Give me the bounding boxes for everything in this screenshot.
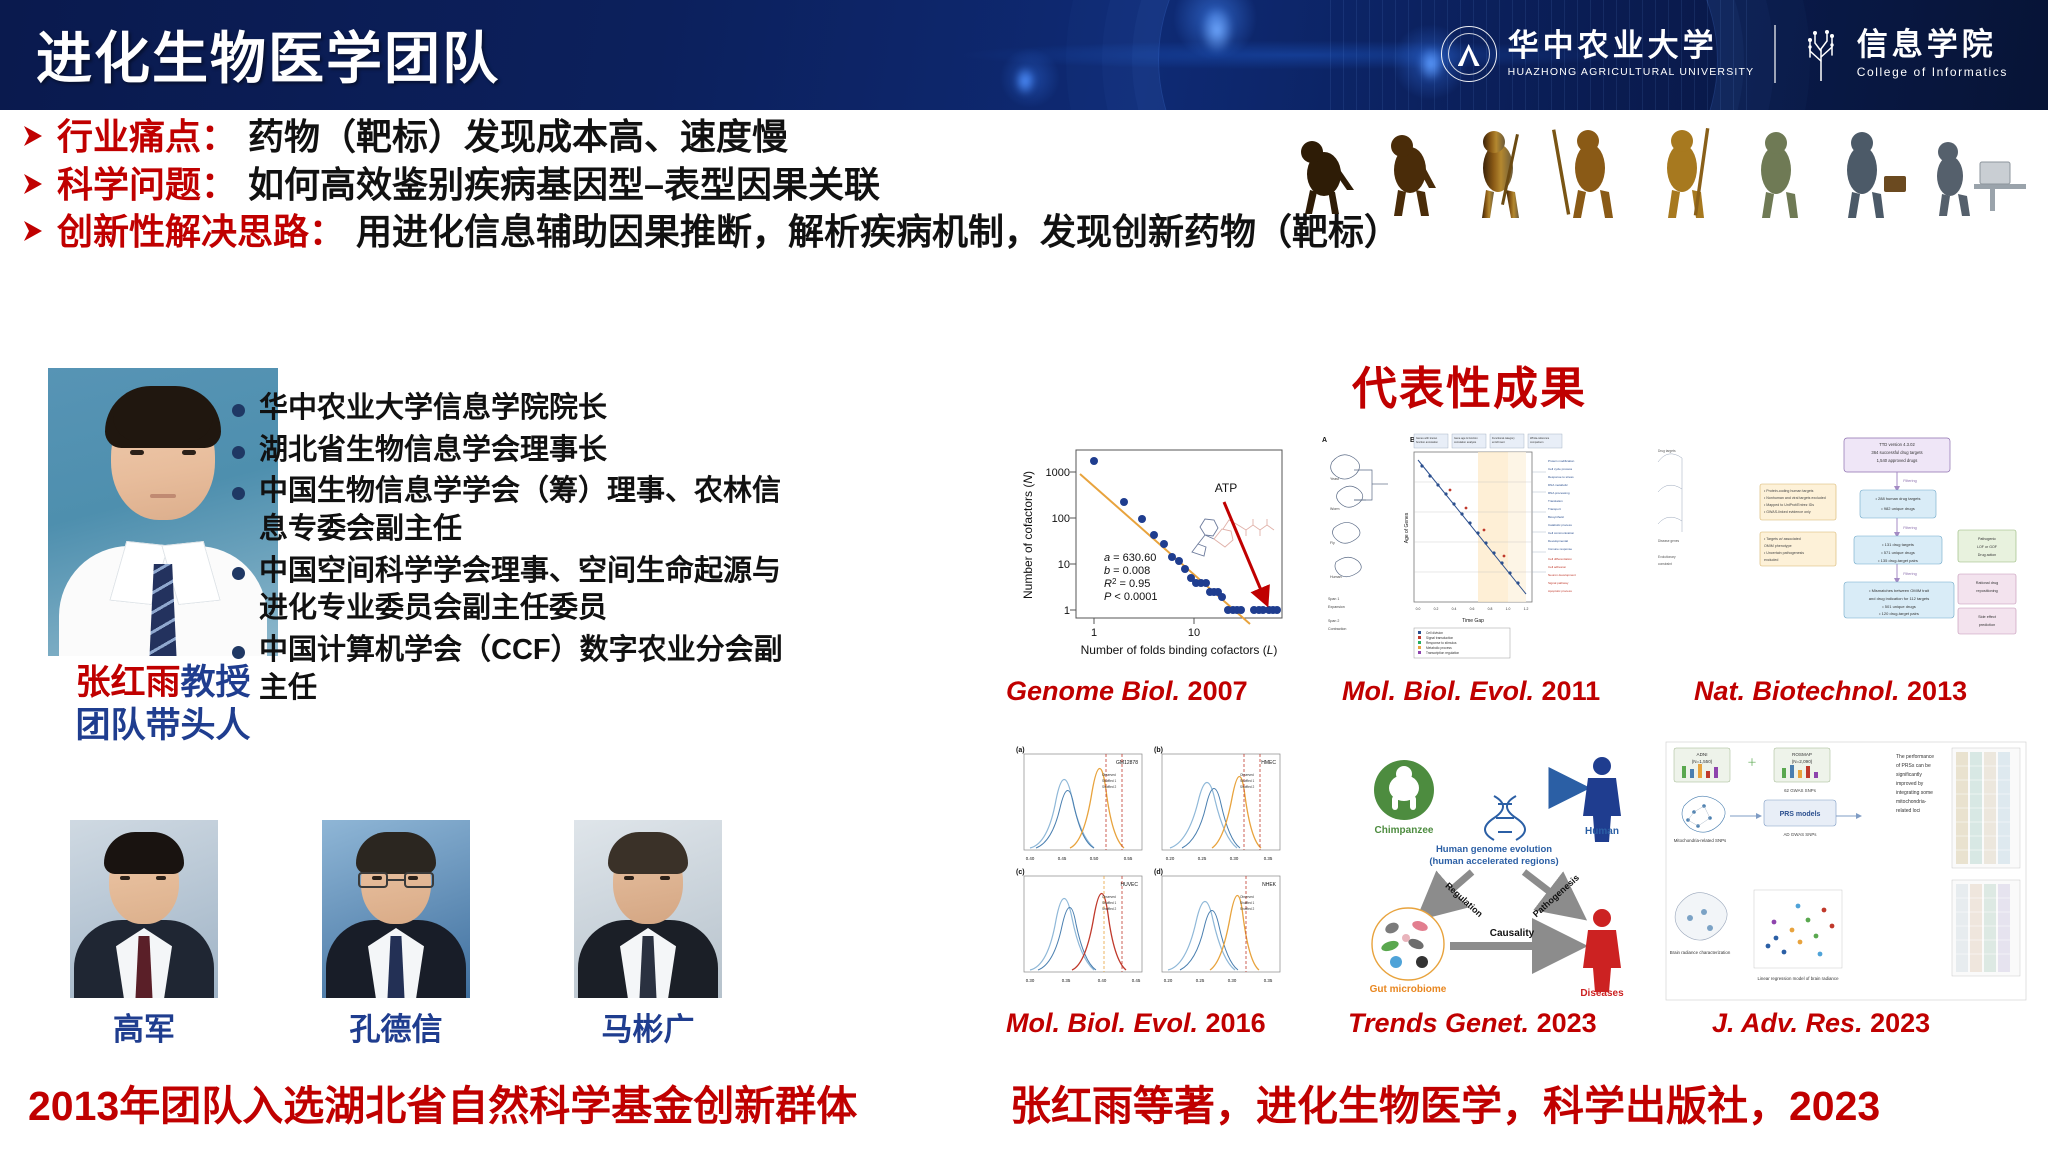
svg-text:• Uncertain pathogenesis: • Uncertain pathogenesis	[1764, 551, 1804, 555]
svg-text:Worm: Worm	[1330, 507, 1340, 511]
svg-text:Catabolic process: Catabolic process	[1548, 523, 1572, 527]
member-3: 马彬广	[574, 820, 722, 1049]
svg-text:Signal transduction: Signal transduction	[1426, 636, 1453, 640]
svg-text:correlation analysis: correlation analysis	[1454, 440, 1477, 444]
svg-text:PRS models: PRS models	[1780, 811, 1821, 818]
results-section-title: 代表性成果	[1352, 352, 1587, 417]
figure-mol-biol-evol-2016: (a)(b) (c)(d) GM12878HMEC HUVECNHEK Obse…	[1010, 740, 1300, 1002]
bullet-item-1: 行业痛点： 药物（靶标）发现成本高、速度慢	[20, 113, 1400, 161]
svg-text:ADNI: ADNI	[1697, 752, 1708, 757]
svg-text:Evolutionary: Evolutionary	[1658, 555, 1676, 559]
bullet-text-3: 用进化信息辅助因果推断，解析疾病机制，发现创新药物（靶标）	[356, 208, 1400, 256]
svg-text:LOF or GOF: LOF or GOF	[1977, 545, 1998, 549]
svg-text:Cell communication: Cell communication	[1548, 531, 1575, 535]
page-title: 进化生物医学团队	[36, 14, 500, 95]
svg-text:Span 2: Span 2	[1328, 619, 1339, 623]
figure1-annotations: a = 630.60 b = 0.008 R2 = 0.95 P < 0.000…	[1104, 552, 1158, 603]
svg-text:• 131 drug targets: • 131 drug targets	[1882, 542, 1914, 547]
svg-text:0.35: 0.35	[1264, 856, 1273, 861]
svg-text:Shuffled 1: Shuffled 1	[1240, 779, 1255, 783]
svg-text:0.25: 0.25	[1196, 978, 1205, 983]
figure5-diseases-label: Diseases	[1580, 988, 1624, 998]
svg-text:1000: 1000	[1046, 467, 1070, 479]
svg-text:Apoptotic process: Apoptotic process	[1548, 589, 1572, 593]
svg-text:＋: ＋	[1747, 758, 1757, 769]
svg-text:Shuffled 1: Shuffled 1	[1102, 779, 1117, 783]
svg-text:enrichment: enrichment	[1492, 440, 1505, 444]
bullet-dot-icon	[232, 567, 245, 580]
svg-text:Response to stimulus: Response to stimulus	[1426, 641, 1457, 645]
svg-text:• 135 drug-target pairs: • 135 drug-target pairs	[1878, 558, 1918, 563]
header-glow-dot-1	[1200, 6, 1234, 54]
header-logos: 华中农业大学 HUAZHONG AGRICULTURAL UNIVERSITY	[1441, 12, 2008, 96]
svg-text:Translation: Translation	[1548, 499, 1563, 503]
svg-text:Fly: Fly	[1330, 541, 1335, 545]
svg-text:repositioning: repositioning	[1976, 589, 1998, 593]
svg-text:Mitochondria-related SNPs: Mitochondria-related SNPs	[1674, 838, 1727, 843]
svg-text:0.40: 0.40	[1026, 856, 1035, 861]
svg-text:Shuffled 1: Shuffled 1	[1102, 901, 1117, 905]
svg-text:comparison: comparison	[1530, 440, 1544, 444]
svg-text:100: 100	[1052, 513, 1070, 525]
bio-item: 中国空间科学学会理事、空间生命起源与进化专业委员会副主任委员	[232, 553, 792, 628]
bullet-label-1: 行业痛点：	[57, 113, 237, 161]
caption-figure-1: Genome Biol. 2007	[1006, 676, 1248, 707]
bio-text: 湖北省生物信息学会理事长	[259, 432, 607, 470]
svg-text:Protein modification: Protein modification	[1548, 459, 1575, 463]
arrow-bullet-icon	[20, 123, 46, 149]
svg-text:GM12878: GM12878	[1116, 760, 1138, 766]
bullet-dot-icon	[232, 487, 245, 500]
svg-text:Cell adhesion: Cell adhesion	[1548, 565, 1567, 569]
svg-text:Biosynthetic: Biosynthetic	[1548, 515, 1565, 519]
svg-text:Expansion: Expansion	[1328, 605, 1345, 609]
svg-text:TTD version 4.3.02: TTD version 4.3.02	[1879, 442, 1915, 447]
svg-text:Genes with known: Genes with known	[1416, 436, 1438, 440]
svg-text:(b): (b)	[1154, 747, 1163, 754]
svg-text:Functional category: Functional category	[1492, 436, 1515, 440]
university-crest-icon	[1441, 26, 1497, 82]
figure5-causality-label: Causality	[1490, 928, 1535, 939]
svg-text:excluded: excluded	[1764, 558, 1778, 562]
college-logo: 信息学院 College of Informatics	[1796, 27, 2008, 81]
svg-text:1.0: 1.0	[1506, 607, 1511, 611]
figure-genome-biol-2007: 1000100 101 110 Number of folds binding …	[1014, 440, 1302, 660]
figure1-ylabel: Number of cofactors (N)	[1021, 471, 1035, 599]
lead-bio-list: 华中农业大学信息学院院长 湖北省生物信息学会理事长 中国生物信息学学会（筹）理事…	[232, 390, 792, 712]
svg-text:of PRSs can be: of PRSs can be	[1896, 763, 1931, 769]
svg-text:0.45: 0.45	[1132, 978, 1141, 983]
svg-text:1: 1	[1064, 605, 1070, 617]
svg-text:(a): (a)	[1016, 747, 1025, 754]
member-name: 高军	[70, 1004, 218, 1049]
svg-text:a = 630.60: a = 630.60	[1104, 552, 1156, 564]
caption-figure-2: Mol. Biol. Evol. 2011	[1342, 676, 1600, 707]
svg-text:Filtering: Filtering	[1903, 572, 1917, 576]
svg-text:Span 1: Span 1	[1328, 597, 1339, 601]
member-name: 马彬广	[574, 1004, 722, 1049]
svg-text:Observed: Observed	[1102, 773, 1116, 777]
svg-text:Linear regression model of bra: Linear regression model of brain radianc…	[1757, 976, 1839, 981]
bio-item: 湖北省生物信息学会理事长	[232, 432, 792, 470]
figure5-chimp-label: Chimpanzee	[1375, 825, 1434, 836]
svg-text:mitochondria-: mitochondria-	[1896, 799, 1927, 805]
svg-text:• 982 unique drugs: • 982 unique drugs	[1881, 506, 1914, 511]
university-name-cn: 华中农业大学	[1508, 30, 1755, 63]
svg-text:RNA processing: RNA processing	[1548, 491, 1570, 495]
arrow-bullet-icon	[20, 171, 46, 197]
svg-text:(N=1,550): (N=1,550)	[1692, 759, 1713, 764]
svg-text:0.45: 0.45	[1058, 856, 1067, 861]
svg-text:• 571 unique drugs: • 571 unique drugs	[1881, 550, 1914, 555]
bio-text: 中国空间科学学会理事、空间生命起源与进化专业委员会副主任委员	[259, 553, 792, 628]
arrow-bullet-icon	[20, 218, 46, 244]
bullet-item-2: 科学问题： 如何高效鉴别疾病基因型–表型因果关联	[20, 161, 1400, 209]
svg-text:Brain radiance characterizatio: Brain radiance characterization	[1670, 950, 1731, 955]
svg-text:(d): (d)	[1154, 869, 1163, 876]
caption-figure-4: Mol. Biol. Evol. 2016	[1006, 1008, 1266, 1039]
svg-text:DNA metabolic: DNA metabolic	[1548, 483, 1568, 487]
svg-text:0.55: 0.55	[1124, 856, 1133, 861]
svg-text:NHEK: NHEK	[1262, 882, 1277, 888]
svg-text:Shuffled 2: Shuffled 2	[1102, 907, 1117, 911]
svg-text:• Mismatches between OMIM trai: • Mismatches between OMIM trait	[1869, 588, 1930, 593]
svg-text:constraint: constraint	[1658, 562, 1672, 566]
svg-text:Shuffled 2: Shuffled 2	[1240, 785, 1255, 789]
svg-text:A: A	[1322, 437, 1327, 444]
svg-text:• 288 human drug targets: • 288 human drug targets	[1876, 496, 1921, 501]
college-name-en: College of Informatics	[1857, 65, 2008, 79]
caption-figure-6: J. Adv. Res. 2023	[1712, 1008, 1930, 1039]
member-name: 孔德信	[322, 1004, 470, 1049]
circuit-tree-icon	[1796, 27, 1846, 81]
bullet-text-1: 药物（靶标）发现成本高、速度慢	[248, 113, 788, 161]
svg-text:b = 0.008: b = 0.008	[1104, 565, 1150, 577]
bullet-text-2: 如何高效鉴别疾病基因型–表型因果关联	[248, 161, 880, 209]
svg-text:1,540 approved drugs: 1,540 approved drugs	[1877, 458, 1918, 463]
svg-text:Side effect: Side effect	[1978, 615, 1997, 619]
bio-item: 中国生物信息学学会（筹）理事、农林信息专委会副主任	[232, 473, 792, 548]
svg-text:Filtering: Filtering	[1903, 479, 1917, 483]
svg-text:HMEC: HMEC	[1261, 760, 1276, 766]
svg-text:1: 1	[1091, 627, 1097, 639]
figure-j-adv-res-2023: ADNI(N=1,550) ROSMAP(N=2,090) ＋ Mitochon…	[1664, 740, 2028, 1002]
svg-text:related loci: related loci	[1896, 808, 1920, 814]
svg-text:HUVEC: HUVEC	[1120, 882, 1138, 888]
svg-text:Developmental: Developmental	[1548, 539, 1568, 543]
svg-text:Cell cycle process: Cell cycle process	[1548, 467, 1573, 471]
figure5-gut-label: Gut microbiome	[1370, 984, 1447, 995]
svg-text:Observed: Observed	[1240, 895, 1254, 899]
svg-text:Rational drug: Rational drug	[1976, 581, 1999, 585]
svg-text:0.35: 0.35	[1264, 978, 1273, 983]
svg-text:R2 = 0.95: R2 = 0.95	[1104, 577, 1150, 590]
bio-text: 中国生物信息学学会（筹）理事、农林信息专委会副主任	[259, 473, 792, 548]
svg-text:• 120 drug-target pairs: • 120 drug-target pairs	[1879, 611, 1919, 616]
svg-text:Shuffled 1: Shuffled 1	[1240, 901, 1255, 905]
svg-text:0.30: 0.30	[1026, 978, 1035, 983]
svg-text:0.50: 0.50	[1090, 856, 1099, 861]
university-name-en: HUAZHONG AGRICULTURAL UNIVERSITY	[1508, 66, 1755, 78]
svg-text:0.0: 0.0	[1416, 607, 1421, 611]
svg-text:• 501 unique drugs: • 501 unique drugs	[1882, 604, 1915, 609]
svg-text:Immune response: Immune response	[1548, 547, 1572, 551]
svg-text:ROSMAP: ROSMAP	[1792, 752, 1812, 757]
bullet-dot-icon	[232, 646, 245, 659]
svg-text:integrating some: integrating some	[1896, 790, 1933, 796]
svg-text:0.4: 0.4	[1452, 607, 1457, 611]
svg-text:Observed: Observed	[1102, 895, 1116, 899]
figure1-molecule-label: ATP	[1215, 481, 1237, 495]
bio-item: 中国计算机学会（CCF）数字农业分会副主任	[232, 632, 792, 707]
svg-text:Cell division: Cell division	[1426, 631, 1443, 635]
svg-text:62 GWAS SNPs: 62 GWAS SNPs	[1784, 788, 1817, 793]
bio-text: 中国计算机学会（CCF）数字农业分会副主任	[259, 632, 792, 707]
bullet-item-3: 创新性解决思路： 用进化信息辅助因果推断，解析疾病机制，发现创新药物（靶标）	[20, 208, 1400, 256]
evolution-illustration	[1290, 128, 2032, 220]
svg-text:Transcription regulation: Transcription regulation	[1426, 651, 1459, 655]
svg-text:function annotation: function annotation	[1416, 440, 1438, 444]
university-logo: 华中农业大学 HUAZHONG AGRICULTURAL UNIVERSITY	[1441, 26, 1755, 82]
figure-mol-biol-evol-2011: A B YeastWorm FlyHuman Span 1Expansion S…	[1318, 432, 1622, 662]
svg-text:Human genome evolution: Human genome evolution	[1436, 844, 1552, 855]
svg-text:10: 10	[1058, 559, 1070, 571]
svg-text:Drug targets: Drug targets	[1658, 449, 1676, 453]
svg-text:Time Gap: Time Gap	[1462, 618, 1484, 624]
svg-text:Drug action: Drug action	[1978, 553, 1996, 557]
figure-trends-genet-2023: Chimpanzee Human Human genome evolution …	[1344, 748, 1644, 998]
member-portrait	[574, 820, 722, 998]
slide-header: 进化生物医学团队 华中农业大学 HUAZHONG AGRICULTURAL UN…	[0, 0, 2048, 110]
svg-text:Contraction: Contraction	[1328, 627, 1346, 631]
figure-nat-biotechnol-2013: TTD version 4.3.02 364 successful drug t…	[1648, 432, 2028, 662]
svg-text:0.6: 0.6	[1470, 607, 1475, 611]
svg-text:1.2: 1.2	[1524, 607, 1529, 611]
svg-text:significantly: significantly	[1896, 772, 1922, 778]
logo-divider	[1774, 25, 1775, 83]
svg-text:0.20: 0.20	[1166, 856, 1175, 861]
member-portrait	[70, 820, 218, 998]
svg-text:Neuron development: Neuron development	[1548, 573, 1576, 577]
svg-text:Filtering: Filtering	[1903, 526, 1917, 530]
svg-text:Human: Human	[1330, 575, 1342, 579]
key-points-list: 行业痛点： 药物（靶标）发现成本高、速度慢 科学问题： 如何高效鉴别疾病基因型–…	[20, 113, 1400, 256]
svg-text:0.2: 0.2	[1434, 607, 1439, 611]
svg-text:0.35: 0.35	[1062, 978, 1071, 983]
svg-text:0.8: 0.8	[1488, 607, 1493, 611]
svg-text:Pathogenic: Pathogenic	[1978, 537, 1996, 541]
svg-text:Cell differentiation: Cell differentiation	[1548, 557, 1572, 561]
svg-text:(c): (c)	[1016, 869, 1025, 876]
caption-figure-5: Trends Genet. 2023	[1348, 1008, 1597, 1039]
svg-text:10: 10	[1188, 627, 1200, 639]
bullet-label-3: 创新性解决思路：	[57, 208, 345, 256]
header-glow-dot-3	[1014, 66, 1036, 96]
svg-text:Shuffled 2: Shuffled 2	[1102, 785, 1117, 789]
bullet-dot-icon	[232, 446, 245, 459]
svg-text:• Nonhuman and viral targets e: • Nonhuman and viral targets excluded	[1764, 496, 1826, 500]
svg-text:• GWAS-linked evidence only: • GWAS-linked evidence only	[1764, 510, 1811, 514]
member-2: 孔德信	[322, 820, 470, 1049]
svg-text:• Mapped to UniProt/Entrez IDs: • Mapped to UniProt/Entrez IDs	[1764, 503, 1814, 507]
svg-text:Age of Genes: Age of Genes	[1404, 512, 1410, 543]
award-banner: 2013年团队入选湖北省自然科学基金创新群体	[28, 1072, 857, 1132]
svg-text:0.30: 0.30	[1228, 978, 1237, 983]
svg-text:Observed: Observed	[1240, 773, 1254, 777]
svg-text:• Targets w/ associated: • Targets w/ associated	[1764, 537, 1801, 541]
svg-text:Gene age & function: Gene age & function	[1454, 436, 1478, 440]
svg-text:improved by: improved by	[1896, 781, 1924, 787]
svg-text:prediction: prediction	[1979, 623, 1995, 627]
svg-text:364 successful drug targets: 364 successful drug targets	[1871, 450, 1922, 455]
svg-text:(human accelerated regions): (human accelerated regions)	[1429, 856, 1558, 867]
bullet-dot-icon	[232, 404, 245, 417]
svg-text:Whole-reference: Whole-reference	[1530, 436, 1550, 440]
svg-text:Metabolic process: Metabolic process	[1426, 646, 1452, 650]
member-portrait	[322, 820, 470, 998]
figure1-xlabel: Number of folds binding cofactors (L)	[1081, 643, 1278, 657]
svg-text:Transport: Transport	[1548, 507, 1561, 511]
svg-text:OMIM phenotype: OMIM phenotype	[1764, 544, 1792, 548]
bullet-label-2: 科学问题：	[57, 161, 237, 209]
book-banner: 张红雨等著，进化生物医学，科学出版社，2023	[1010, 1072, 1880, 1132]
svg-text:• Protein-coding human targets: • Protein-coding human targets	[1764, 489, 1814, 493]
svg-text:and drug indication for 112 ta: and drug indication for 112 targets	[1869, 596, 1929, 601]
svg-text:Signal pathway: Signal pathway	[1548, 581, 1569, 585]
member-1: 高军	[70, 820, 218, 1049]
svg-text:0.25: 0.25	[1198, 856, 1207, 861]
svg-text:0.40: 0.40	[1098, 978, 1107, 983]
svg-text:AD GWAS SNPs: AD GWAS SNPs	[1783, 832, 1817, 837]
svg-text:(N=2,090): (N=2,090)	[1792, 759, 1813, 764]
svg-text:Shuffled 2: Shuffled 2	[1240, 907, 1255, 911]
college-name-cn: 信息学院	[1857, 29, 2008, 62]
svg-text:0.20: 0.20	[1164, 978, 1173, 983]
bio-item: 华中农业大学信息学院院长	[232, 390, 792, 428]
svg-text:P < 0.0001: P < 0.0001	[1104, 591, 1158, 603]
lead-name: 张红雨	[75, 663, 180, 702]
svg-text:Response to stress: Response to stress	[1548, 475, 1574, 479]
svg-text:The performance: The performance	[1896, 754, 1934, 760]
bio-text: 华中农业大学信息学院院长	[259, 390, 607, 428]
svg-text:Yeast: Yeast	[1330, 477, 1339, 481]
figure5-human-label: Human	[1585, 826, 1619, 837]
svg-text:0.30: 0.30	[1230, 856, 1239, 861]
caption-figure-3: Nat. Biotechnol. 2013	[1694, 676, 1967, 707]
svg-text:Disease genes: Disease genes	[1658, 539, 1679, 543]
